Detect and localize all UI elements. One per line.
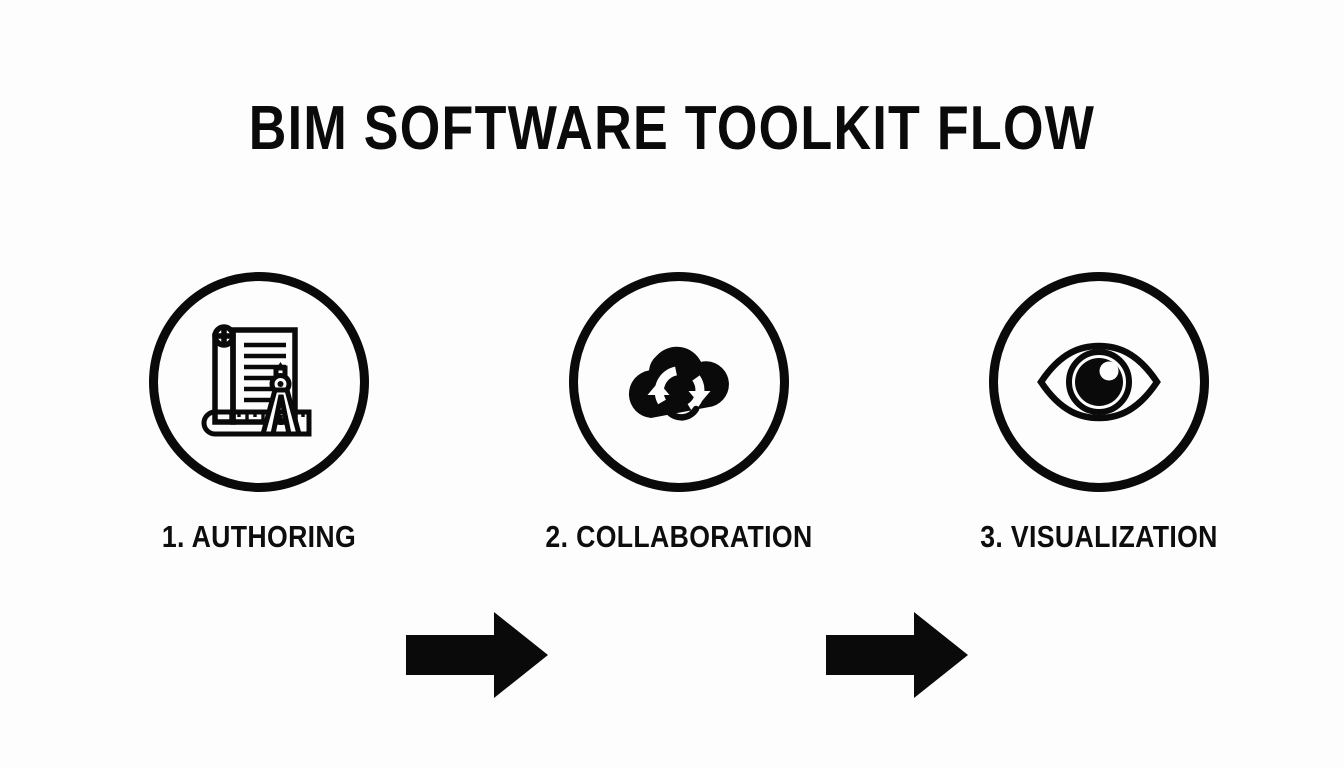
flow-connector-1 (404, 610, 550, 700)
flow-step-collaboration[interactable]: 2. COLLABORATION (569, 272, 789, 572)
step-circle (989, 272, 1209, 492)
step-circle (569, 272, 789, 492)
page-title: BIM SOFTWARE TOOLKIT FLOW (108, 98, 1237, 160)
blueprint-compass-ruler-icon (193, 316, 325, 448)
arrow-right-icon (404, 610, 550, 700)
flow-step-visualization[interactable]: 3. VISUALIZATION (989, 272, 1209, 572)
arrow-right-icon (824, 610, 970, 700)
flow-diagram: 1. AUTHORING (0, 272, 1344, 572)
flow-connector-2 (824, 610, 970, 700)
step-circle (149, 272, 369, 492)
step-label-authoring: 1. AUTHORING (113, 521, 405, 552)
step-label-visualization: 3. VISUALIZATION (953, 521, 1245, 552)
step-label-collaboration: 2. COLLABORATION (533, 521, 825, 552)
cloud-sync-icon (613, 316, 745, 448)
diagram-canvas: BIM SOFTWARE TOOLKIT FLOW (0, 0, 1344, 768)
flow-step-authoring[interactable]: 1. AUTHORING (149, 272, 369, 572)
eye-icon (1033, 316, 1165, 448)
